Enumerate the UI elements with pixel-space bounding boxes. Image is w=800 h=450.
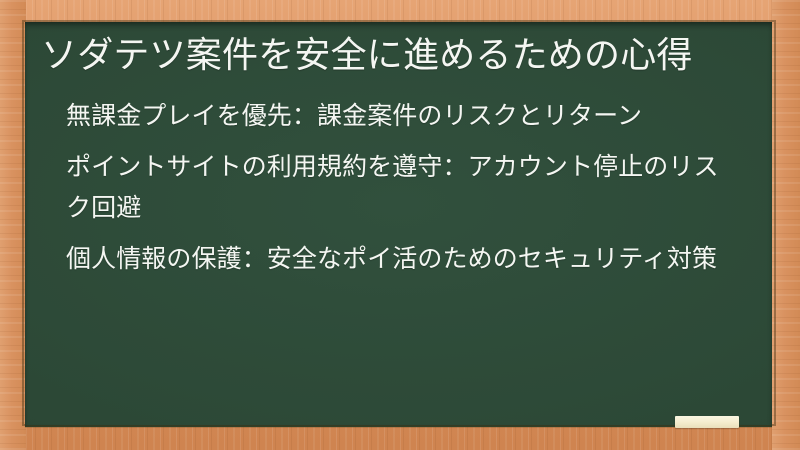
wooden-frame-left-stile: [0, 0, 26, 450]
list-item: 無課金プレイを優先：課金案件のリスクとリターン: [66, 96, 734, 137]
chalkboard-content: ソダテツ案件を安全に進めるための心得 無課金プレイを優先：課金案件のリスクとリタ…: [25, 22, 772, 427]
list-item: 個人情報の保護：安全なポイ活のためのセキュリティ対策: [66, 239, 734, 280]
list-item: ポイントサイトの利用規約を遵守：アカウント停止のリスク回避: [66, 147, 734, 229]
chalk-stick-icon: [675, 416, 739, 428]
chalk-ledge-shadow: [25, 425, 772, 428]
chalkboard-slide: ソダテツ案件を安全に進めるための心得 無課金プレイを優先：課金案件のリスクとリタ…: [0, 0, 800, 450]
wooden-frame-right-stile: [772, 0, 800, 450]
bullet-list: 無課金プレイを優先：課金案件のリスクとリターン ポイントサイトの利用規約を遵守：…: [33, 96, 744, 280]
page-title: ソダテツ案件を安全に進めるための心得: [33, 32, 744, 78]
chalkboard-surface: ソダテツ案件を安全に進めるための心得 無課金プレイを優先：課金案件のリスクとリタ…: [25, 22, 772, 427]
